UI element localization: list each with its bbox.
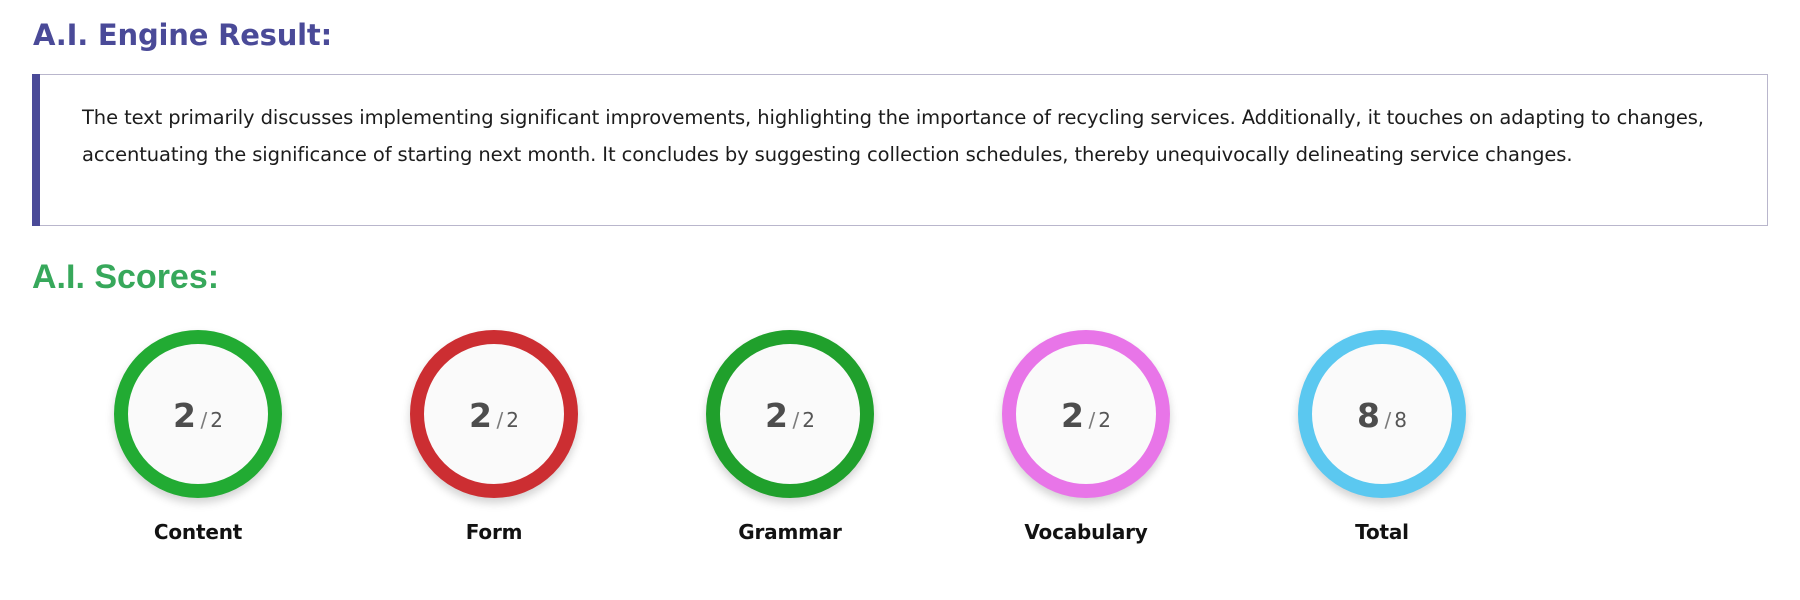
score-separator: / (200, 410, 207, 430)
score-max: 8 (1394, 410, 1407, 430)
score-ring-grammar: 2/2 (706, 330, 874, 498)
score-value: 2/2 (469, 399, 519, 432)
ai-scores-heading: A.I. Scores: (32, 258, 219, 297)
score-max: 2 (210, 410, 223, 430)
score-max: 2 (802, 410, 815, 430)
score-separator: / (496, 410, 503, 430)
score-separator: / (792, 410, 799, 430)
score-item-content: 2/2Content (50, 330, 346, 544)
score-ring-form: 2/2 (410, 330, 578, 498)
score-value: 2/2 (765, 399, 815, 432)
engine-result-text: The text primarily discusses implementin… (40, 75, 1767, 225)
score-item-vocabulary: 2/2Vocabulary (938, 330, 1234, 544)
result-accent-bar (32, 74, 40, 226)
score-number: 2 (765, 399, 787, 432)
score-label: Content (154, 520, 242, 544)
score-max: 2 (506, 410, 519, 430)
ai-result-page: A.I. Engine Result: The text primarily d… (0, 0, 1800, 600)
score-item-form: 2/2Form (346, 330, 642, 544)
score-value: 2/2 (1061, 399, 1111, 432)
score-value: 2/2 (173, 399, 223, 432)
score-ring-vocabulary: 2/2 (1002, 330, 1170, 498)
score-number: 2 (173, 399, 195, 432)
score-item-total: 8/8Total (1234, 330, 1530, 544)
engine-result-heading: A.I. Engine Result: (33, 18, 332, 52)
score-number: 2 (1061, 399, 1083, 432)
score-value: 8/8 (1357, 399, 1407, 432)
score-ring-total: 8/8 (1298, 330, 1466, 498)
score-label: Vocabulary (1024, 520, 1147, 544)
score-separator: / (1384, 410, 1391, 430)
score-label: Form (466, 520, 523, 544)
score-number: 2 (469, 399, 491, 432)
score-circles-row: 2/2Content2/2Form2/2Grammar2/2Vocabulary… (50, 330, 1550, 570)
engine-result-box: The text primarily discusses implementin… (32, 74, 1768, 226)
score-max: 2 (1098, 410, 1111, 430)
score-number: 8 (1357, 399, 1379, 432)
score-ring-content: 2/2 (114, 330, 282, 498)
score-separator: / (1088, 410, 1095, 430)
score-label: Total (1355, 520, 1409, 544)
score-item-grammar: 2/2Grammar (642, 330, 938, 544)
score-label: Grammar (738, 520, 841, 544)
